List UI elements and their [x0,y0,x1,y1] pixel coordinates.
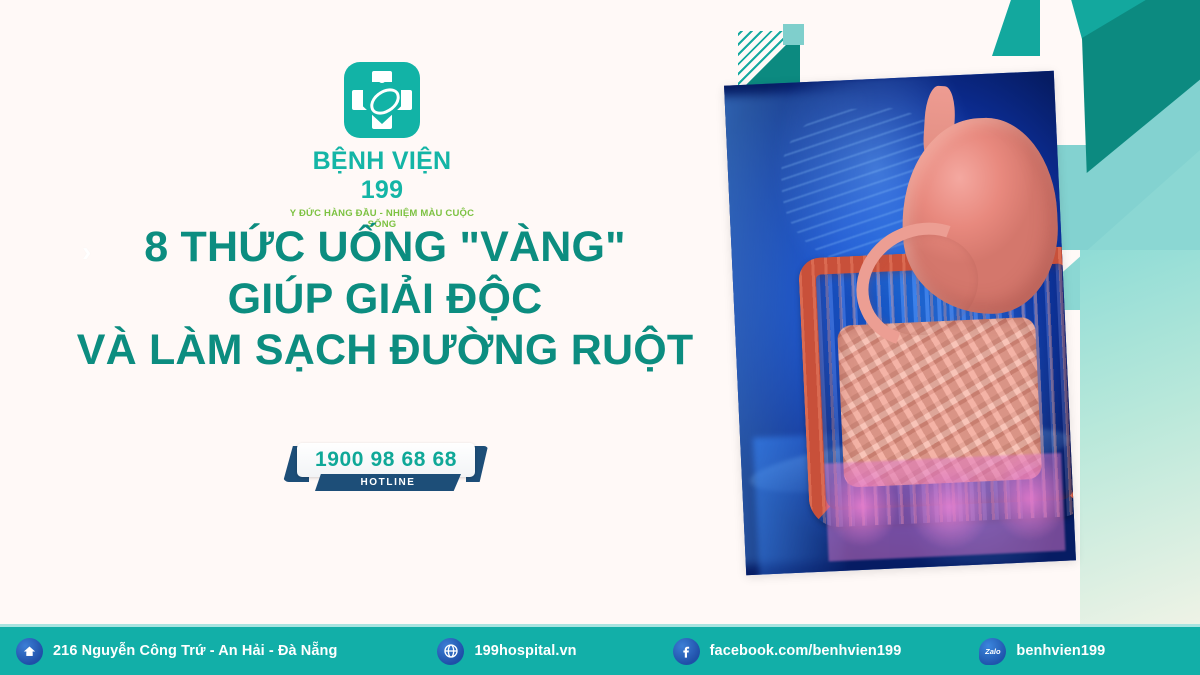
hotline-label: HOTLINE [360,477,415,488]
hospital-name: BỆNH VIỆN 199 [288,147,476,205]
shield-dot [378,75,386,83]
facebook-icon [673,638,700,665]
footer-bar: 216 Nguyễn Công Trứ - An Hải - Đà Nẵng 1… [0,627,1200,675]
footer-website-text: 199hospital.vn [474,643,576,659]
headline-block: › 8 THỨC UỐNG "VÀNG" GIÚP GIẢI ĐỘC VÀ LÀ… [40,222,730,377]
footer-item-facebook[interactable]: facebook.com/benhvien199 [673,627,902,675]
hospital-logo: BỆNH VIỆN 199 Y ĐỨC HÀNG ĐẦU - NHIỆM MÀU… [288,62,476,230]
footer-facebook-text: facebook.com/benhvien199 [710,643,902,659]
headline-line-1: 8 THỨC UỐNG "VÀNG" [40,222,730,274]
shield-icon [363,82,401,124]
pelvic-organs-shape [824,453,1066,562]
globe-icon [437,638,464,665]
hotline-plate: 1900 98 68 68 [297,443,475,477]
decorative-mint-gradient-panel [1080,250,1200,627]
decorative-small-square [783,24,804,45]
digestive-system-illustration [724,71,1076,575]
hotline-label-ribbon: HOTLINE [315,474,461,491]
hotline-badge[interactable]: 1900 98 68 68 HOTLINE [283,443,488,495]
medical-cross-shield-icon [344,62,420,138]
chevron-right-icon: › [82,238,91,266]
footer-item-zalo[interactable]: Zalo benhvien199 [979,627,1105,675]
footer-item-website[interactable]: 199hospital.vn [437,627,576,675]
home-icon [16,638,43,665]
zalo-icon-label: Zalo [985,647,1000,656]
hero-image [724,71,1076,575]
headline-line-3: VÀ LÀM SẠCH ĐƯỜNG RUỘT [40,325,730,377]
poster-canvas: BỆNH VIỆN 199 Y ĐỨC HÀNG ĐẦU - NHIỆM MÀU… [0,0,1200,675]
hotline-number: 1900 98 68 68 [315,448,457,472]
footer-address-text: 216 Nguyễn Công Trứ - An Hải - Đà Nẵng [53,643,337,659]
headline-line-2: GIÚP GIẢI ĐỘC [40,274,730,326]
zalo-icon: Zalo [979,638,1006,665]
footer-item-address: 216 Nguyễn Công Trứ - An Hải - Đà Nẵng [16,627,337,675]
footer-zalo-text: benhvien199 [1016,643,1105,659]
